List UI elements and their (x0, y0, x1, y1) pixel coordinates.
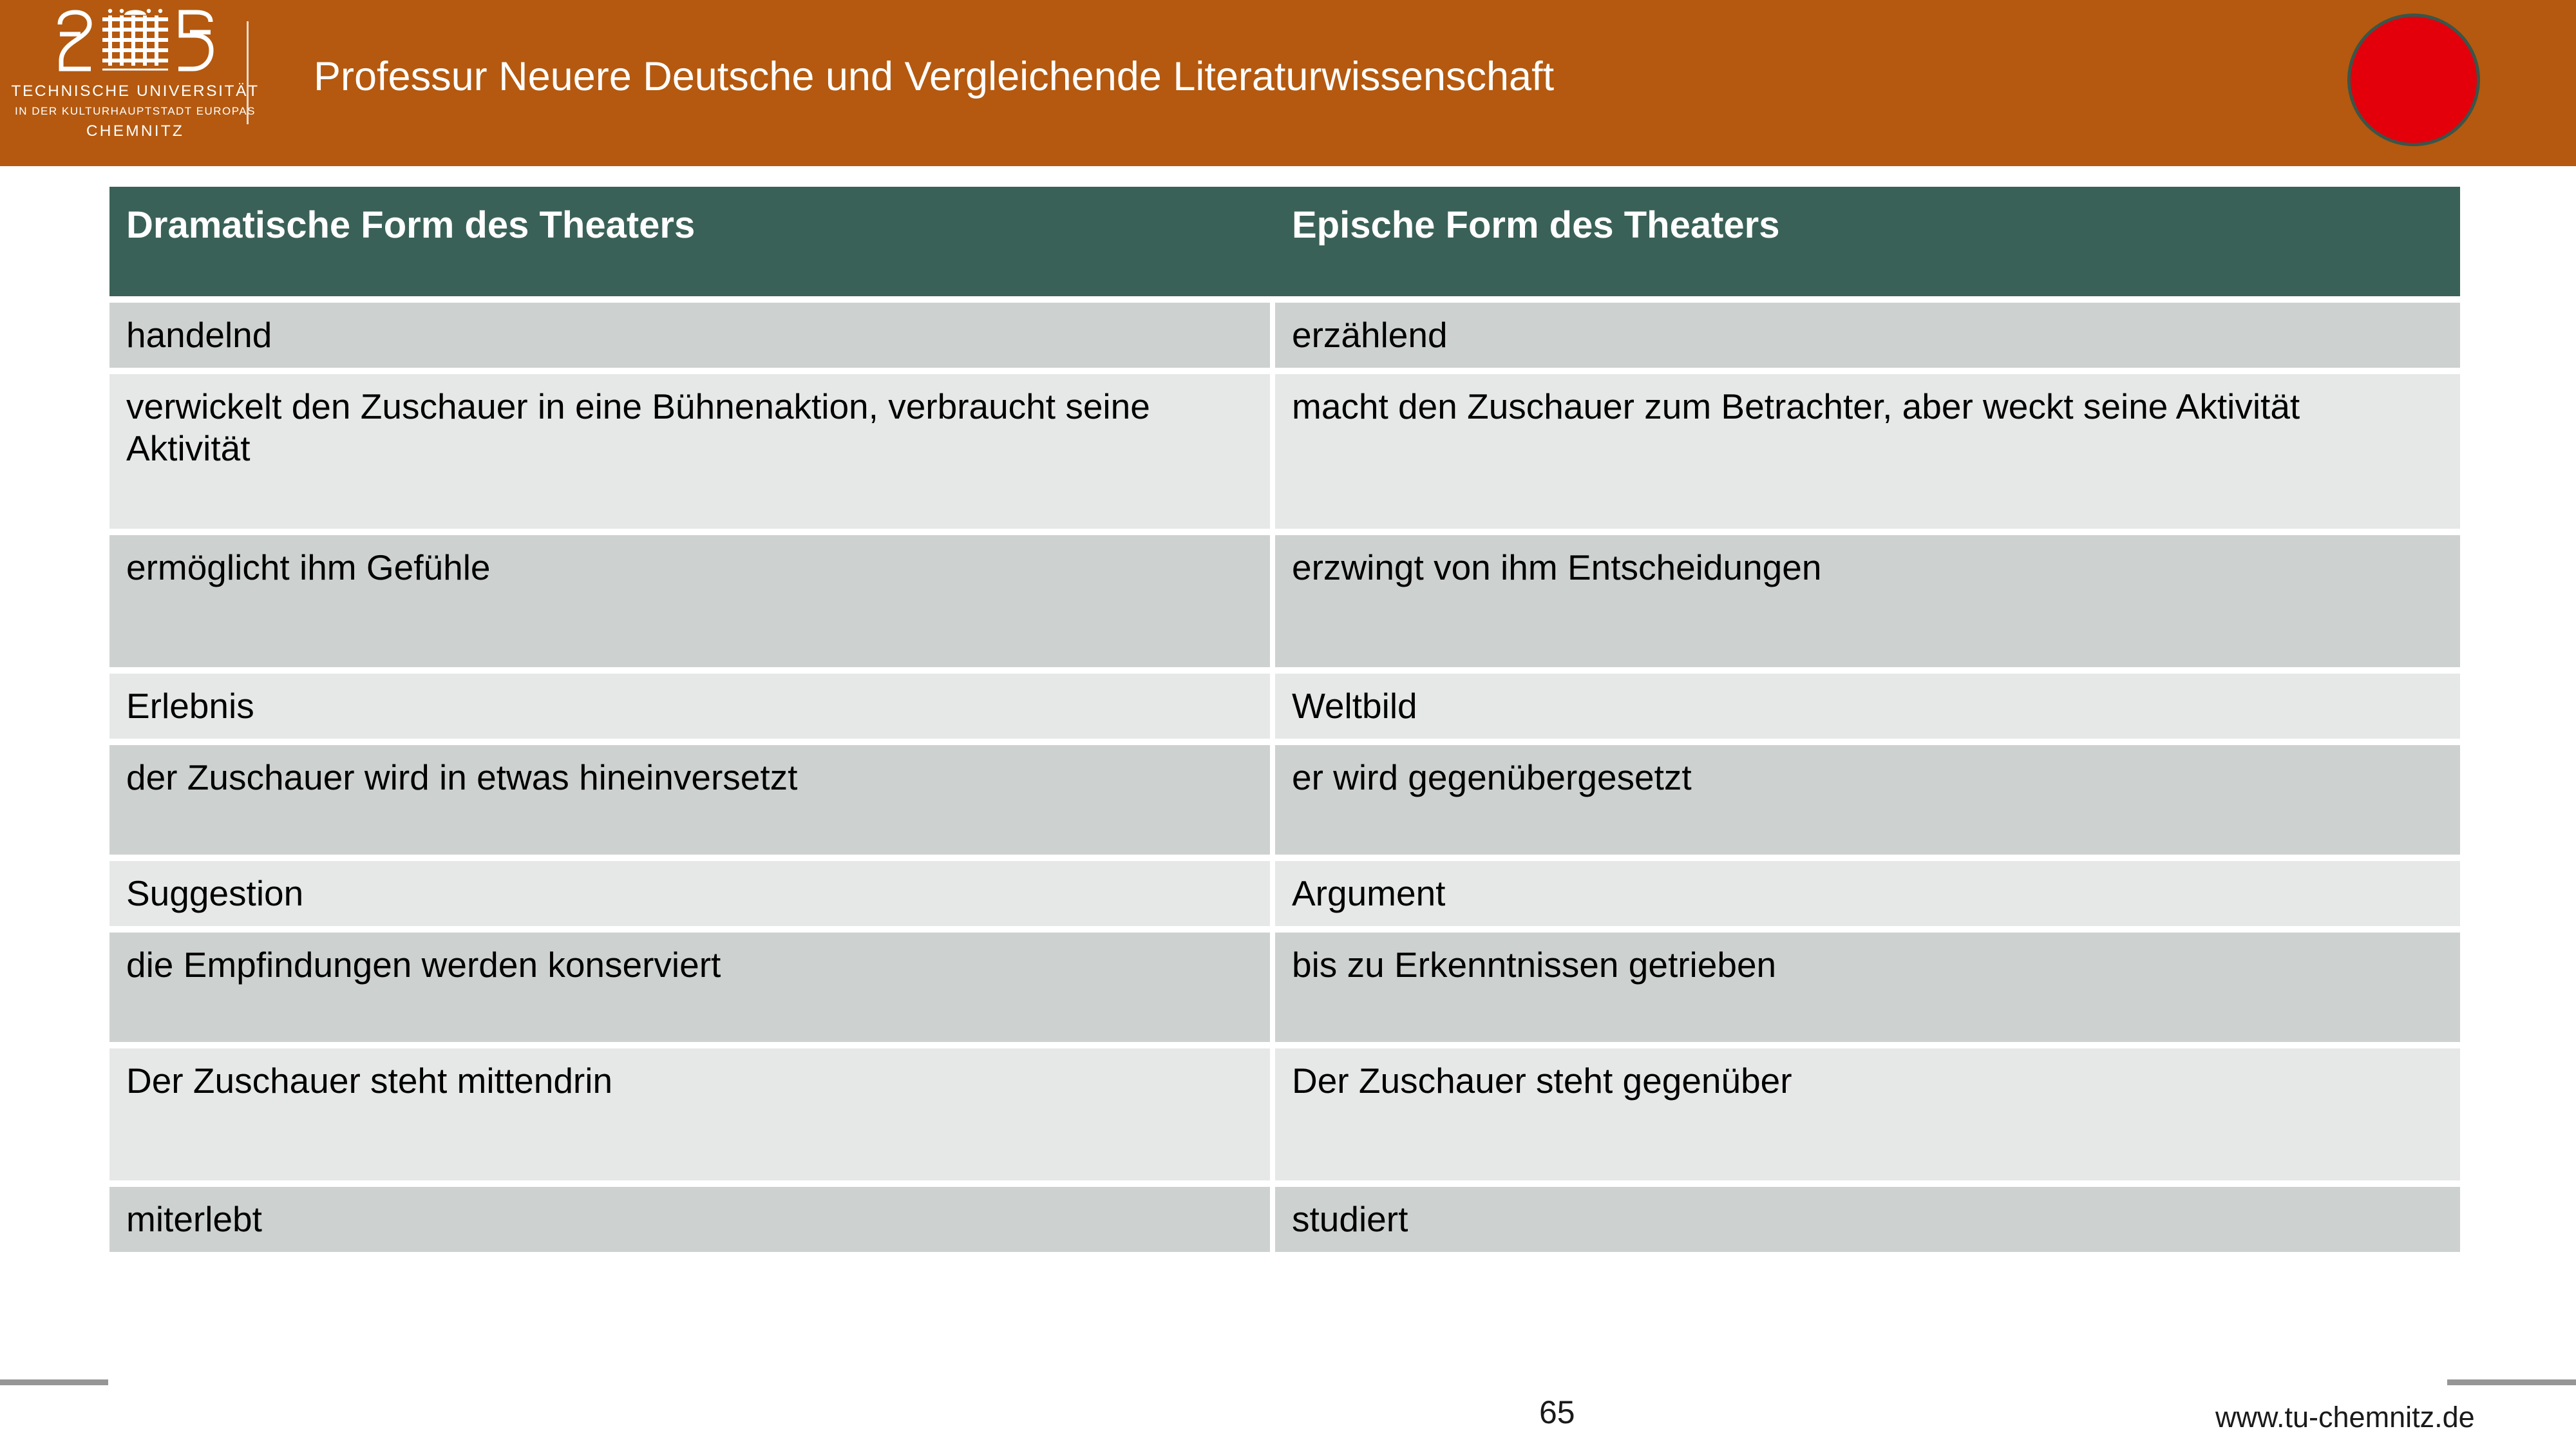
cell-dramatic: verwickelt den Zuschauer in eine Bühnena… (109, 374, 1275, 529)
cell-dramatic: handelnd (109, 303, 1275, 368)
column-header-epic: Epische Form des Theaters (1275, 187, 2460, 296)
footer-rule-right (2447, 1379, 2576, 1385)
table-header-row: Dramatische Form des Theaters Epische Fo… (109, 187, 2460, 296)
logo-2025-mark (55, 6, 216, 75)
logo-line-city: CHEMNITZ (86, 122, 184, 140)
logo-line-university: TECHNISCHE UNIVERSITÄT (11, 82, 259, 100)
page-number: 65 (1539, 1394, 1575, 1431)
row-spacer (109, 926, 2460, 933)
row-spacer (109, 368, 2460, 374)
logo-line-subtitle: IN DER KULTURHAUPTSTADT EUROPAS (15, 105, 256, 118)
cell-dramatic: ermöglicht ihm Gefühle (109, 535, 1275, 667)
table-row: verwickelt den Zuschauer in eine Bühnena… (109, 374, 2460, 529)
row-spacer (109, 529, 2460, 535)
cell-dramatic: Suggestion (109, 861, 1275, 926)
red-circle-accent (2347, 14, 2480, 146)
cell-dramatic: der Zuschauer wird in etwas hineinverset… (109, 745, 1275, 855)
tu-chemnitz-logo: TECHNISCHE UNIVERSITÄT IN DER KULTURHAUP… (39, 6, 232, 155)
cell-dramatic: Erlebnis (109, 674, 1275, 739)
row-spacer (109, 296, 2460, 303)
cell-epic: erzwingt von ihm Entscheidungen (1275, 535, 2460, 667)
header-band: TECHNISCHE UNIVERSITÄT IN DER KULTURHAUP… (0, 0, 2576, 166)
table-row: Der Zuschauer steht mittendrin Der Zusch… (109, 1048, 2460, 1180)
table-row: der Zuschauer wird in etwas hineinverset… (109, 745, 2460, 855)
table-row: Erlebnis Weltbild (109, 674, 2460, 739)
table-row: die Empfindungen werden konserviert bis … (109, 933, 2460, 1042)
row-spacer (109, 739, 2460, 745)
table-row: ermöglicht ihm Gefühle erzwingt von ihm … (109, 535, 2460, 667)
row-spacer (109, 1180, 2460, 1187)
cell-dramatic: miterlebt (109, 1187, 1275, 1252)
cell-epic: studiert (1275, 1187, 2460, 1252)
cell-epic: er wird gegenübergesetzt (1275, 745, 2460, 855)
row-spacer (109, 855, 2460, 861)
header-divider (247, 21, 249, 124)
table-row: Suggestion Argument (109, 861, 2460, 926)
cell-epic: macht den Zuschauer zum Betrachter, aber… (1275, 374, 2460, 529)
cell-epic: bis zu Erkenntnissen getrieben (1275, 933, 2460, 1042)
row-spacer (109, 667, 2460, 674)
cell-epic: Der Zuschauer steht gegenüber (1275, 1048, 2460, 1180)
theatre-forms-comparison-table: Dramatische Form des Theaters Epische Fo… (109, 187, 2460, 1252)
footer-url: www.tu-chemnitz.de (2215, 1401, 2475, 1434)
cell-epic: Argument (1275, 861, 2460, 926)
table-row: miterlebt studiert (109, 1187, 2460, 1252)
cell-dramatic: die Empfindungen werden konserviert (109, 933, 1275, 1042)
column-header-dramatic: Dramatische Form des Theaters (109, 187, 1275, 296)
page-title: Professur Neuere Deutsche und Vergleiche… (314, 57, 1554, 97)
cell-epic: erzählend (1275, 303, 2460, 368)
table-row: handelnd erzählend (109, 303, 2460, 368)
cell-dramatic: Der Zuschauer steht mittendrin (109, 1048, 1275, 1180)
footer-rule-left (0, 1379, 108, 1385)
cell-epic: Weltbild (1275, 674, 2460, 739)
row-spacer (109, 1042, 2460, 1048)
